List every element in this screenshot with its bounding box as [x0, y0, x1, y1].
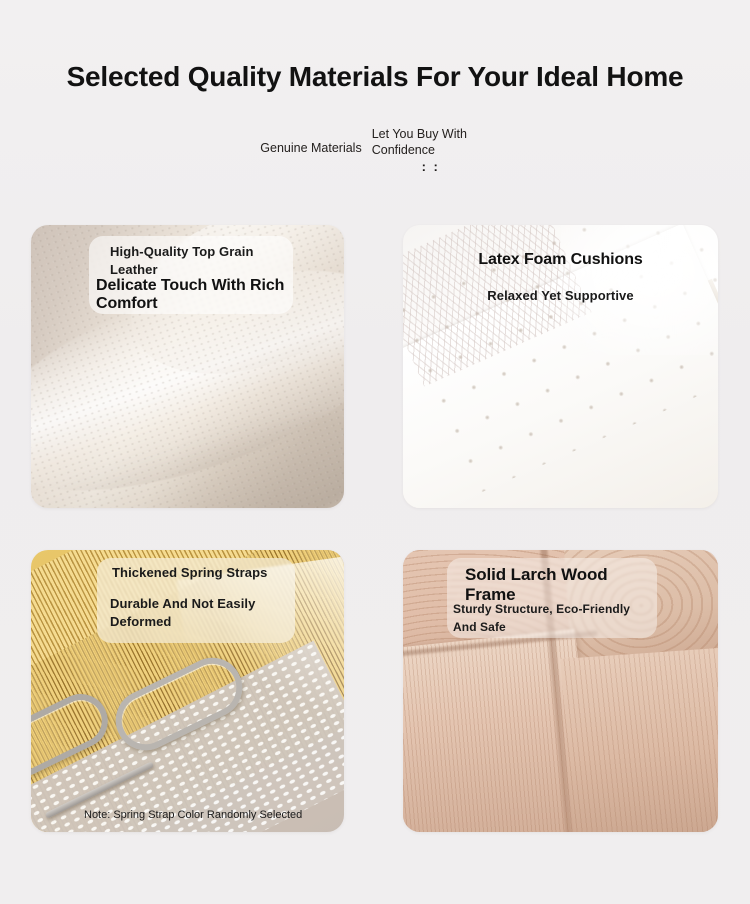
wood-beam-front-right-grain	[560, 645, 718, 832]
decorative-dots: : :	[372, 162, 490, 172]
subtitle-left: Genuine Materials	[260, 126, 361, 157]
subtitle-right-wrap: Let You Buy With Confidence : :	[372, 126, 490, 172]
page-header: Selected Quality Materials For Your Idea…	[0, 60, 750, 94]
subtitle-right: Let You Buy With Confidence	[372, 126, 490, 158]
wood-headline: Sturdy Structure, Eco-Friendly And Safe	[453, 600, 653, 636]
spring-headline: Durable And Not Easily Deformed	[110, 595, 295, 631]
page-title: Selected Quality Materials For Your Idea…	[0, 60, 750, 94]
leather-material-label: High-Quality Top Grain Leather	[110, 243, 285, 279]
latex-foam-material-label: Latex Foam Cushions	[403, 251, 718, 269]
subtitle-row: Genuine Materials Let You Buy With Confi…	[0, 126, 750, 172]
latex-foam-headline: Relaxed Yet Supportive	[403, 287, 718, 305]
spring-material-label: Thickened Spring Straps	[112, 564, 292, 582]
wood-material-label: Solid Larch Wood Frame	[465, 565, 640, 605]
spring-color-note: Note: Spring Strap Color Randomly Select…	[84, 805, 314, 823]
leather-headline: Delicate Touch With Rich Comfort	[96, 277, 296, 313]
promo-page: Selected Quality Materials For Your Idea…	[0, 0, 750, 904]
